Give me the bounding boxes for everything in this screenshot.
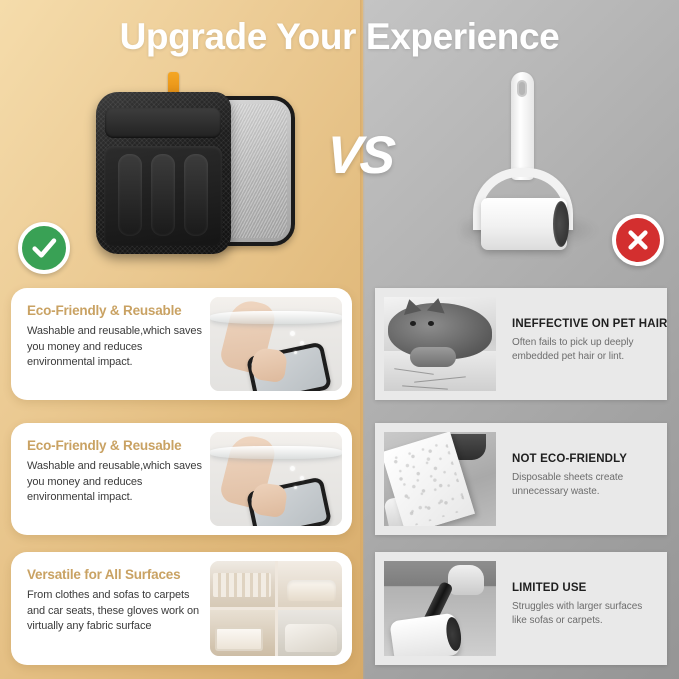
benefit-card-text: Versatile for All Surfaces From clothes … (11, 552, 210, 665)
benefit-card-image-hand-washing-glove (210, 432, 342, 526)
drawback-card-body: Often fails to pick up deeply embedded p… (512, 336, 668, 364)
hand (250, 482, 288, 518)
drawback-card-body: Struggles with larger surfaces like sofa… (512, 600, 655, 628)
cat-eye (428, 321, 434, 326)
benefit-card-body: Washable and reusable,which saves you mo… (27, 459, 202, 506)
drawback-card: INEFFECTIVE ON PET HAIR Often fails to p… (375, 288, 667, 400)
cat-eye (410, 321, 416, 326)
bubble (290, 331, 295, 336)
sheet-scene (384, 432, 496, 526)
drawback-card-text: LIMITED USE Struggles with larger surfac… (496, 552, 667, 665)
benefit-card-image-surfaces-grid (210, 561, 342, 656)
glove-finger (184, 154, 208, 236)
bubble (290, 466, 295, 471)
grid-image-carpet-rug (210, 610, 275, 656)
cat-ear (427, 297, 447, 313)
benefit-card-text: Eco-Friendly & Reusable Washable and reu… (11, 288, 210, 400)
benefit-card: Versatile for All Surfaces From clothes … (11, 552, 352, 665)
hand (250, 347, 288, 383)
grid-image-beige-sofa (278, 561, 343, 607)
bubble (294, 351, 297, 354)
drawback-card-heading: NOT ECO-FRIENDLY (512, 453, 655, 465)
water-surface (210, 311, 342, 324)
benefit-card-body: From clothes and sofas to carpets and ca… (27, 588, 202, 635)
bubble (300, 476, 304, 480)
benefit-card-heading: Versatile for All Surfaces (27, 567, 202, 582)
page-title: Upgrade Your Experience (0, 14, 679, 60)
drawback-card-image-roller-on-carpet (384, 561, 496, 656)
drawback-card-body: Disposable sheets create unnecessary was… (512, 471, 655, 499)
glove-strap (105, 108, 221, 138)
benefit-card-image-hand-washing-glove (210, 297, 342, 391)
benefit-card-heading: Eco-Friendly & Reusable (27, 303, 202, 318)
panel-divider (360, 0, 365, 679)
cat-paw (410, 347, 456, 367)
water-surface (210, 446, 342, 459)
glove-black-front (96, 92, 231, 254)
glove-pocket (104, 146, 222, 246)
roller-hang-hole (517, 80, 527, 97)
roller-drum (481, 198, 567, 250)
bubble (300, 341, 304, 345)
drawback-card-heading: INEFFECTIVE ON PET HAIR (512, 318, 668, 330)
grid-image-car-seats (278, 610, 343, 656)
glove-finger (118, 154, 142, 236)
drawback-card: NOT ECO-FRIENDLY Disposable sheets creat… (375, 423, 667, 535)
drawback-card-text: NOT ECO-FRIENDLY Disposable sheets creat… (496, 423, 667, 535)
product-image-reusable-glove (83, 68, 298, 268)
bubble (294, 486, 297, 489)
grid-image-clothes-rack (210, 561, 275, 607)
benefit-card: Eco-Friendly & Reusable Washable and reu… (11, 423, 352, 535)
surfaces-grid (210, 561, 342, 656)
x-circle-icon (612, 214, 664, 266)
drawback-card: LIMITED USE Struggles with larger surfac… (375, 552, 667, 665)
product-image-lint-roller (455, 72, 600, 267)
drawback-card-image-used-lint-sheet (384, 432, 496, 526)
benefit-card-text: Eco-Friendly & Reusable Washable and reu… (11, 423, 210, 535)
glove-finger (151, 154, 175, 236)
vs-badge: VS (312, 124, 408, 188)
drawback-card-text: INEFFECTIVE ON PET HAIR Often fails to p… (496, 288, 679, 400)
benefit-card-body: Washable and reusable,which saves you mo… (27, 324, 202, 371)
benefit-card-heading: Eco-Friendly & Reusable (27, 438, 202, 453)
drawback-card-heading: LIMITED USE (512, 582, 655, 594)
benefit-card: Eco-Friendly & Reusable Washable and reu… (11, 288, 352, 400)
hand (448, 565, 484, 595)
carpet-scene (384, 561, 496, 656)
cat-scene (384, 297, 496, 391)
roller-drum (389, 613, 460, 656)
drawback-card-image-cat-on-blanket (384, 297, 496, 391)
infographic-root: Upgrade Your Experience VS Eco-Friendl (0, 0, 679, 679)
check-circle-icon (18, 222, 70, 274)
